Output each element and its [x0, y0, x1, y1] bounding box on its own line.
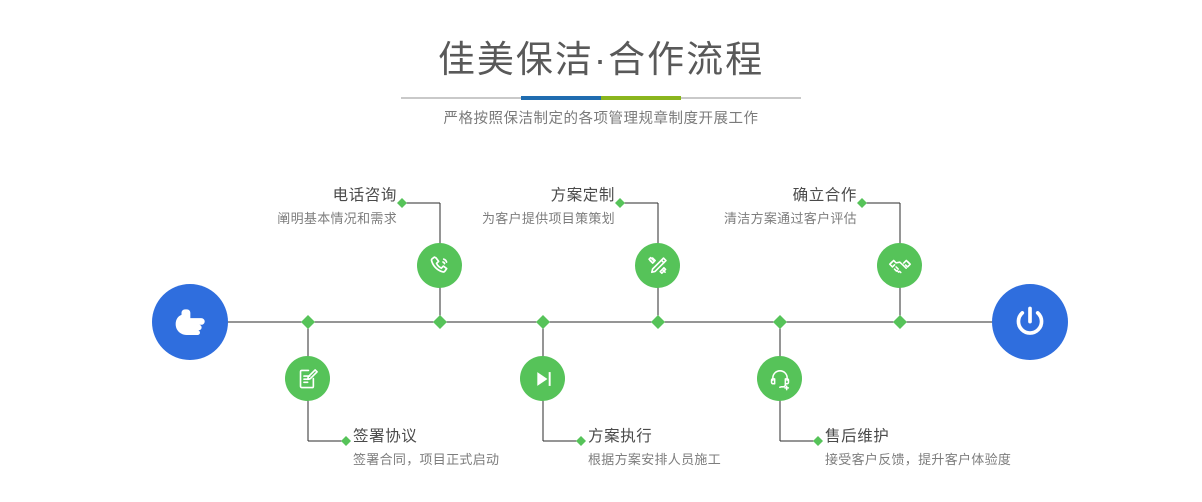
- step-node-3[interactable]: [635, 243, 680, 288]
- power-icon: [1009, 301, 1051, 343]
- step-desc-2: 签署合同，项目正式启动: [353, 450, 583, 469]
- phone-call-icon: [427, 253, 453, 279]
- step-label-4: 方案执行 根据方案安排人员施工: [588, 427, 818, 469]
- step-title-3: 方案定制: [423, 186, 615, 206]
- process-flow-page: 佳美保洁·合作流程 严格按照保洁制定的各项管理规章制度开展工作: [0, 0, 1202, 502]
- step-desc-6: 接受客户反馈，提升客户体验度: [825, 450, 1085, 469]
- play-execute-icon: [530, 366, 556, 392]
- flow-start-node[interactable]: [152, 284, 228, 360]
- step-node-6[interactable]: [757, 356, 802, 401]
- step-label-3: 方案定制 为客户提供项目策策划: [423, 186, 615, 228]
- pencil-ruler-icon: [645, 253, 671, 279]
- step-desc-4: 根据方案安排人员施工: [588, 450, 818, 469]
- flow-end-node[interactable]: [992, 284, 1068, 360]
- step-desc-5: 清洁方案通过客户评估: [665, 209, 857, 228]
- step-label-2: 签署协议 签署合同，项目正式启动: [353, 427, 583, 469]
- step-title-5: 确立合作: [665, 186, 857, 206]
- step-label-5: 确立合作 清洁方案通过客户评估: [665, 186, 857, 228]
- step-node-4[interactable]: [520, 356, 565, 401]
- step-node-2[interactable]: [285, 356, 330, 401]
- pointing-hand-icon: [169, 301, 211, 343]
- handshake-icon: [887, 253, 913, 279]
- sign-document-icon: [295, 366, 321, 392]
- process-flow-diagram: 电话咨询 阐明基本情况和需求 方案定制 为客户提供项目策策划 确立合作 清洁方案…: [0, 0, 1202, 502]
- headset-support-icon: [767, 366, 793, 392]
- step-desc-3: 为客户提供项目策策划: [423, 209, 615, 228]
- step-node-1[interactable]: [417, 243, 462, 288]
- step-title-2: 签署协议: [353, 427, 583, 447]
- step-desc-1: 阐明基本情况和需求: [205, 209, 397, 228]
- step-label-1: 电话咨询 阐明基本情况和需求: [205, 186, 397, 228]
- step-title-4: 方案执行: [588, 427, 818, 447]
- step-title-6: 售后维护: [825, 427, 1085, 447]
- step-title-1: 电话咨询: [205, 186, 397, 206]
- step-node-5[interactable]: [877, 243, 922, 288]
- step-label-6: 售后维护 接受客户反馈，提升客户体验度: [825, 427, 1085, 469]
